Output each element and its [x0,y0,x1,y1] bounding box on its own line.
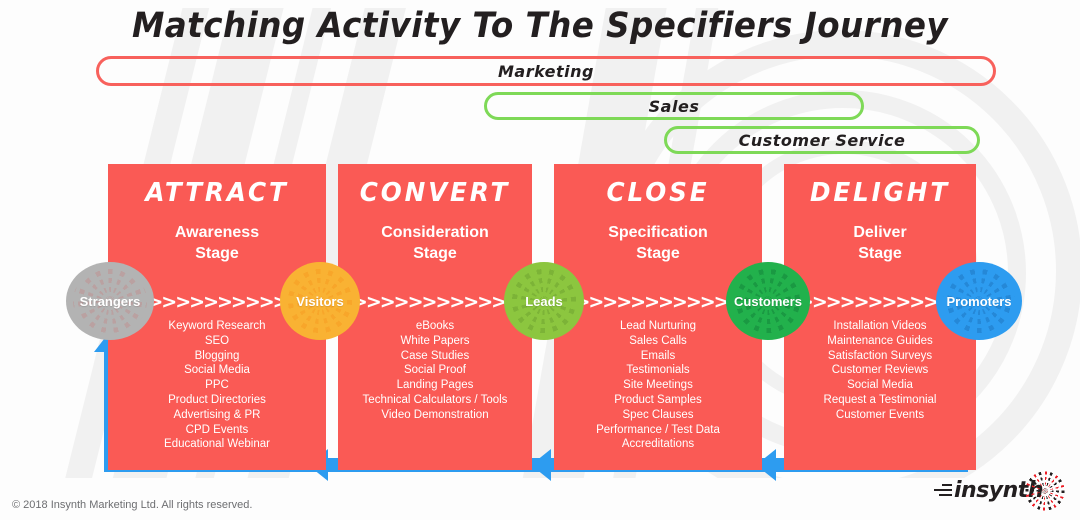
role-band-marketing: Marketing [96,56,996,86]
stage-subheading: Deliver Stage [784,222,976,264]
node-visitors: Visitors [280,262,360,340]
stage-activity-item: Product Directories [108,393,326,408]
stage-activity-list: Installation VideosMaintenance GuidesSat… [784,319,976,423]
infographic-canvas: Matching Activity To The Specifiers Jour… [0,0,1080,520]
stage-heading: CLOSE [559,178,757,208]
stage-heading: CONVERT [343,178,527,208]
stage-activity-item: Request a Testimonial [784,393,976,408]
page-title: Matching Activity To The Specifiers Jour… [38,6,1042,46]
role-band-sales: Sales [484,92,864,120]
stage-activity-item: Satisfaction Surveys [784,349,976,364]
node-label: Promoters [946,294,1011,309]
stage-activity-item: Blogging [108,349,326,364]
role-band-customer-service: Customer Service [664,126,980,154]
logo-speed-lines-icon [930,484,954,500]
stage-activity-item: Accreditations [554,437,762,452]
role-band-label: Marketing [498,62,594,81]
copyright-notice: © 2018 Insynth Marketing Ltd. All rights… [12,499,252,511]
role-band-label: Customer Service [739,131,906,150]
stage-activity-item: Social Media [108,363,326,378]
stage-activity-item: Educational Webinar [108,437,326,452]
stage-activity-item: Social Proof [338,363,532,378]
stage-activity-item: Customer Reviews [784,363,976,378]
stage-activity-item: CPD Events [108,423,326,438]
node-label: Customers [734,294,802,309]
stage-heading: DELIGHT [789,178,971,208]
stage-panel-convert: CONVERT Consideration Stage >>>>>>>>>>>>… [338,164,532,470]
stage-activity-item: Spec Clauses [554,408,762,423]
chevron-row-icon: >>>>>>>>>>>>>> [338,290,532,314]
stage-activity-item: Sales Calls [554,334,762,349]
stage-activity-item: PPC [108,378,326,393]
node-leads: Leads [504,262,584,340]
stage-activity-item: Testimonials [554,363,762,378]
role-band-label: Sales [649,97,700,116]
stage-activity-item: Site Meetings [554,378,762,393]
stage-activity-item: Social Media [784,378,976,393]
stage-activity-list: Lead NurturingSales CallsEmailsTestimoni… [554,319,762,452]
stage-activity-item: Video Demonstration [338,408,532,423]
stage-subheading: Consideration Stage [338,222,532,264]
stage-activity-item: SEO [108,334,326,349]
stage-activity-list: Keyword ResearchSEOBloggingSocial MediaP… [108,319,326,452]
stage-activity-item: Customer Events [784,408,976,423]
stage-activity-item: eBooks [338,319,532,334]
node-customers: Customers [726,262,810,340]
node-label: Leads [525,294,563,309]
stage-activity-list: eBooksWhite PapersCase StudiesSocial Pro… [338,319,532,423]
insynth-logo: insynth [930,470,1066,512]
stage-activity-item: Advertising & PR [108,408,326,423]
node-promoters: Promoters [936,262,1022,340]
stage-activity-item: Lead Nurturing [554,319,762,334]
stage-activity-item: Performance / Test Data [554,423,762,438]
stage-heading: ATTRACT [113,178,320,208]
stage-activity-item: Case Studies [338,349,532,364]
stage-activity-item: Emails [554,349,762,364]
stage-activity-item: White Papers [338,334,532,349]
stage-activity-item: Product Samples [554,393,762,408]
stage-activity-item: Landing Pages [338,378,532,393]
stage-activity-item: Technical Calculators / Tools [338,393,532,408]
stage-subheading: Specification Stage [554,222,762,264]
node-label: Visitors [296,294,343,309]
logo-swirl-icon [1024,470,1066,512]
node-label: Strangers [80,294,141,309]
flow-arrow-left-icon [531,449,551,481]
stage-activity-item: Maintenance Guides [784,334,976,349]
node-strangers: Strangers [66,262,154,340]
stage-subheading: Awareness Stage [108,222,326,264]
